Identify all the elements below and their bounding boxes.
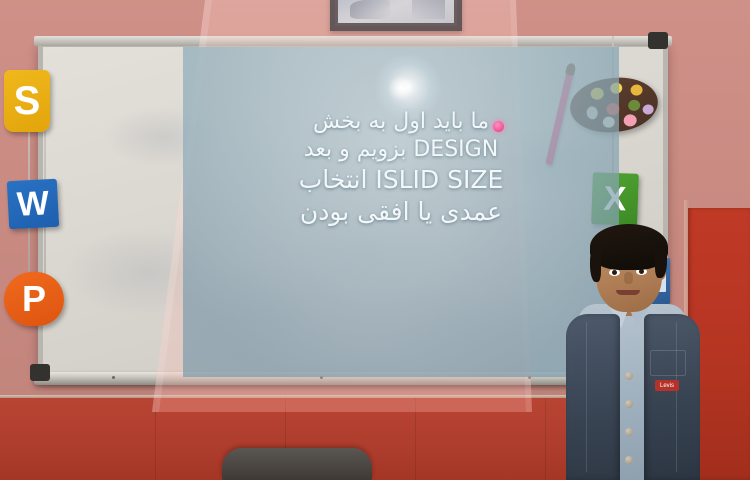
word-sticker[interactable]: W	[7, 179, 59, 230]
vest-pocket	[650, 350, 686, 376]
picture-canvas	[338, 0, 454, 23]
vest-brand-tag: Levis	[655, 380, 679, 391]
student-mouth	[616, 290, 640, 295]
vest-button	[625, 400, 633, 408]
board-corner-cap	[30, 364, 50, 381]
powerpoint-sticker[interactable]: P	[4, 272, 64, 326]
vest-button	[625, 428, 633, 436]
student-hair-side	[590, 248, 601, 282]
denim-vest-right	[644, 314, 700, 480]
powerpoint-sticker-letter: P	[22, 278, 46, 320]
vest-button	[625, 456, 633, 464]
student-eye	[609, 269, 620, 276]
sway-sticker-letter: S	[14, 79, 41, 124]
sway-sticker[interactable]: S	[4, 70, 50, 132]
tile-seam	[415, 398, 416, 480]
student-nose	[624, 272, 633, 284]
wall-picture	[330, 0, 462, 31]
classroom-photo: S W P X ما باید اول به بخش DESIGN بزویم …	[0, 0, 750, 480]
picture-art-shape	[412, 0, 444, 19]
slide-line-3: ISLID SIZE انتخاب	[183, 165, 619, 196]
chair-back[interactable]	[222, 448, 372, 480]
tray-screw	[112, 376, 115, 379]
picture-art-shape	[350, 0, 391, 19]
slide-line-1: ما باید اول به بخش	[183, 109, 619, 136]
tile-seam	[155, 398, 156, 480]
slide-bullet-icon	[493, 121, 504, 132]
student: Levis	[552, 222, 712, 480]
slide-line-2: DESIGN بزویم و بعد	[183, 137, 619, 164]
tile-seam	[545, 398, 546, 480]
word-sticker-letter: W	[16, 184, 50, 225]
slide-text-block: ما باید اول به بخش DESIGN بزویم و بعد IS…	[183, 109, 619, 228]
whiteboard-top-rail	[34, 36, 672, 46]
board-corner-cap	[648, 32, 668, 49]
student-hair-side	[655, 246, 667, 278]
vest-button	[625, 372, 633, 380]
denim-vest-left	[566, 314, 620, 480]
